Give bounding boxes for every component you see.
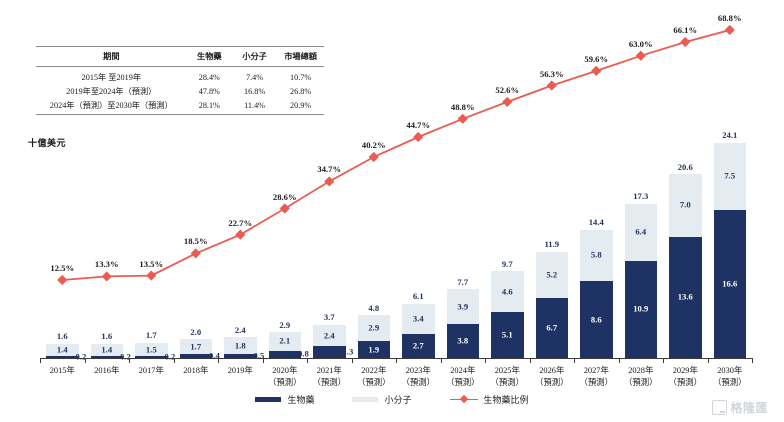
stacked-bar[interactable]: 1.80.5	[224, 337, 257, 358]
bar-value-small-molecule: 2.1	[269, 337, 302, 346]
x-axis-tick	[218, 358, 219, 363]
bar-value-small-molecule: 1.8	[224, 341, 257, 350]
stacked-bar[interactable]: 2.91.9	[358, 315, 391, 358]
x-axis-tick	[663, 358, 664, 363]
bar-value-biologics: 6.7	[536, 324, 569, 333]
bar-total-label: 9.7	[479, 260, 536, 269]
bar-segment-biologics[interactable]: 16.6	[714, 210, 747, 358]
legend-swatch-biologics-icon	[255, 397, 281, 402]
ratio-point-label: 66.1%	[663, 26, 707, 35]
bar-value-biologics: 5.1	[491, 331, 524, 340]
ratio-point-label: 22.7%	[218, 219, 262, 228]
stacked-bar[interactable]: 1.50.2	[135, 343, 168, 358]
bar-segment-small-molecule[interactable]: 2.4	[313, 325, 346, 346]
x-axis-tick	[174, 358, 175, 363]
x-axis-tick	[129, 358, 130, 363]
bar-segment-small-molecule[interactable]: 4.6	[491, 271, 524, 312]
legend-swatch-ratio-line-icon	[450, 395, 478, 404]
bar-segment-biologics[interactable]: 10.9	[625, 261, 658, 358]
bar-segment-small-molecule[interactable]: 5.2	[536, 252, 569, 298]
bar-value-small-molecule: 2.4	[313, 331, 346, 340]
bar-segment-biologics[interactable]: 1.9	[358, 341, 391, 358]
bar-value-small-molecule: 6.4	[625, 228, 658, 237]
bar-value-small-molecule: 4.6	[491, 288, 524, 297]
x-axis-tick	[263, 358, 264, 363]
x-axis-tick	[752, 358, 753, 363]
stacked-bar[interactable]: 6.410.9	[625, 204, 658, 358]
stacked-bar[interactable]: 1.40.2	[46, 344, 79, 358]
bar-value-small-molecule: 3.4	[402, 314, 435, 323]
x-axis-tick	[307, 358, 308, 363]
ratio-point-label: 12.5%	[40, 264, 84, 273]
legend-item-biologics[interactable]: 生物藥	[255, 393, 314, 406]
legend-item-small-molecule[interactable]: 小分子	[352, 393, 411, 406]
legend-item-biologics-ratio[interactable]: 生物藥比例	[450, 393, 529, 406]
bar-segment-small-molecule[interactable]: 1.5	[135, 343, 168, 356]
bar-value-small-molecule: 3.9	[447, 302, 480, 311]
bar-total-label: 4.8	[346, 304, 403, 313]
bar-segment-small-molecule[interactable]: 1.4	[46, 344, 79, 356]
bar-total-label: 7.7	[435, 278, 492, 287]
bar-segment-small-molecule[interactable]: 2.9	[358, 315, 391, 341]
ratio-point-label: 18.5%	[174, 237, 218, 246]
bar-total-label: 20.6	[657, 163, 714, 172]
stacked-bar[interactable]: 4.65.1	[491, 271, 524, 358]
bar-total-label: 17.3	[613, 192, 670, 201]
bar-value-biologics: 10.9	[625, 305, 658, 314]
ratio-point-label: 63.0%	[619, 40, 663, 49]
chart-legend: 生物藥 小分子 生物藥比例	[0, 393, 784, 406]
x-axis-tick	[708, 358, 709, 363]
bar-value-biologics: 3.8	[447, 337, 480, 346]
bar-segment-small-molecule[interactable]: 1.8	[224, 337, 257, 353]
stacked-bar[interactable]: 2.10.8	[269, 332, 302, 358]
bar-segment-biologics[interactable]: 8.6	[580, 281, 613, 358]
ratio-point-label: 34.7%	[307, 165, 351, 174]
x-axis-tick	[530, 358, 531, 363]
bar-total-label: 6.1	[390, 292, 447, 301]
bar-segment-biologics[interactable]: 2.7	[402, 334, 435, 358]
x-axis-tick	[40, 358, 41, 363]
bar-value-small-molecule: 1.4	[91, 346, 124, 355]
ratio-point-label: 52.6%	[485, 86, 529, 95]
chart-plot-area: 1.40.21.61.40.21.61.50.21.71.70.42.01.80…	[40, 8, 752, 358]
x-axis-tick	[85, 358, 86, 363]
stacked-bar[interactable]: 3.42.7	[402, 304, 435, 358]
bar-segment-small-molecule[interactable]: 2.1	[269, 332, 302, 351]
stacked-bar[interactable]: 7.516.6	[714, 143, 747, 358]
stacked-bar[interactable]: 1.40.2	[91, 344, 124, 358]
legend-label-biologics: 生物藥	[287, 393, 314, 406]
x-axis-tick	[619, 358, 620, 363]
bar-value-small-molecule: 1.7	[180, 343, 213, 352]
bar-segment-small-molecule[interactable]: 7.5	[714, 143, 747, 210]
x-axis-label-forecast-note: （預測）	[700, 377, 760, 389]
bar-segment-biologics[interactable]: 6.7	[536, 298, 569, 358]
bar-value-biologics: 8.6	[580, 315, 613, 324]
bar-value-small-molecule: 7.0	[669, 201, 702, 210]
x-axis-tick	[441, 358, 442, 363]
bar-segment-small-molecule[interactable]: 3.9	[447, 289, 480, 324]
bar-total-label: 24.1	[702, 131, 759, 140]
bar-value-small-molecule: 5.8	[580, 251, 613, 260]
bar-value-small-molecule: 7.5	[714, 172, 747, 181]
x-axis-label-year: 2030年	[700, 365, 760, 377]
bar-total-label: 11.9	[524, 240, 581, 249]
bar-value-small-molecule: 1.5	[135, 345, 168, 354]
ratio-point-label: 48.8%	[441, 103, 485, 112]
bar-value-biologics: 1.9	[358, 345, 391, 354]
legend-label-small-molecule: 小分子	[384, 393, 411, 406]
bar-segment-biologics[interactable]: 0.8	[269, 351, 302, 358]
bar-value-small-molecule: 1.4	[46, 346, 79, 355]
watermark-logo-icon	[712, 400, 727, 415]
stacked-bar[interactable]: 1.70.4	[180, 339, 213, 358]
bar-value-small-molecule: 2.9	[358, 324, 391, 333]
bar-segment-small-molecule[interactable]: 5.8	[580, 230, 613, 282]
ratio-point-label: 13.3%	[85, 260, 129, 269]
legend-label-biologics-ratio: 生物藥比例	[484, 393, 529, 406]
stacked-bar[interactable]: 5.88.6	[580, 230, 613, 358]
bar-segment-small-molecule[interactable]: 7.0	[669, 174, 702, 236]
ratio-point-label: 56.3%	[530, 70, 574, 79]
bar-value-small-molecule: 5.2	[536, 271, 569, 280]
watermark-text: 格隆匯	[730, 399, 768, 416]
bar-value-biologics: 16.6	[714, 280, 747, 289]
x-axis-tick	[485, 358, 486, 363]
ratio-point-label: 28.6%	[263, 193, 307, 202]
bar-segment-biologics[interactable]: 5.1	[491, 312, 524, 358]
ratio-point-label: 44.7%	[396, 121, 440, 130]
ratio-point-label: 13.5%	[129, 260, 173, 269]
bar-segment-small-molecule[interactable]: 1.7	[180, 339, 213, 354]
bar-segment-small-molecule[interactable]: 6.4	[625, 204, 658, 261]
bar-segment-small-molecule[interactable]: 1.4	[91, 344, 124, 356]
bar-total-label: 3.7	[301, 313, 358, 322]
stacked-bar[interactable]: 3.93.8	[447, 289, 480, 358]
watermark: 格隆匯	[712, 399, 768, 416]
stacked-bar[interactable]: 5.26.7	[536, 252, 569, 358]
bar-total-label: 14.4	[568, 218, 625, 227]
bar-value-biologics: 13.6	[669, 293, 702, 302]
bar-segment-small-molecule[interactable]: 3.4	[402, 304, 435, 334]
x-axis-label: 2030年（預測）	[700, 365, 760, 388]
bar-segment-biologics[interactable]: 1.3	[313, 346, 346, 358]
bar-segment-biologics[interactable]: 3.8	[447, 324, 480, 358]
stacked-bar[interactable]: 7.013.6	[669, 174, 702, 358]
bar-segment-biologics[interactable]: 13.6	[669, 237, 702, 358]
bar-value-biologics: 2.7	[402, 342, 435, 351]
stacked-bar[interactable]: 2.41.3	[313, 325, 346, 358]
ratio-point-label: 68.8%	[708, 14, 752, 23]
ratio-point-label: 40.2%	[352, 141, 396, 150]
x-axis-tick	[352, 358, 353, 363]
ratio-point-label: 59.6%	[574, 55, 618, 64]
x-axis-tick	[396, 358, 397, 363]
x-axis-tick	[574, 358, 575, 363]
legend-swatch-small-molecule-icon	[352, 397, 378, 402]
